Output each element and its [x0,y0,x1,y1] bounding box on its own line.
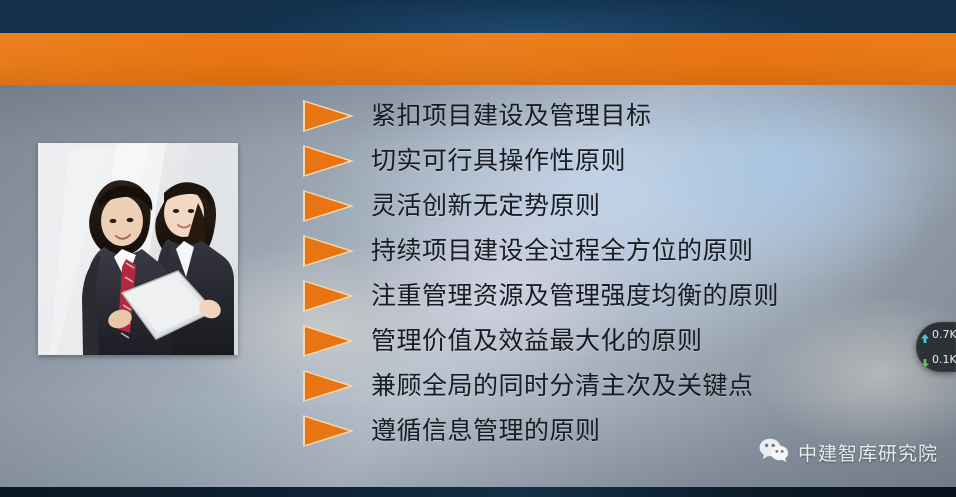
slide-content-area: 紧扣项目建设及管理目标 切实可行具操作性原则 [0,85,956,487]
list-item-label: 兼顾全局的同时分清主次及关键点 [371,373,754,398]
list-item: 兼顾全局的同时分清主次及关键点 [303,363,923,408]
slide-screenshot: 紧扣项目建设及管理目标 切实可行具操作性原则 [0,0,956,497]
list-item: 注重管理资源及管理强度均衡的原则 [303,273,923,318]
arrow-bullet-icon [303,279,355,313]
list-item-label: 注重管理资源及管理强度均衡的原则 [371,283,779,308]
orange-band-sheen [0,33,956,85]
list-item-label: 遵循信息管理的原则 [371,418,601,443]
principles-list: 紧扣项目建设及管理目标 切实可行具操作性原则 [303,93,923,453]
download-speed-value: 0.1K [932,353,956,366]
list-item: 切实可行具操作性原则 [303,138,923,183]
list-item-label: 持续项目建设全过程全方位的原则 [371,238,754,263]
arrow-bullet-icon [303,189,355,223]
arrow-bullet-icon [303,324,355,358]
arrow-bullet-icon [303,414,355,448]
arrow-bullet-icon [303,234,355,268]
list-item: 持续项目建设全过程全方位的原则 [303,228,923,273]
list-item: 紧扣项目建设及管理目标 [303,93,923,138]
upload-speed-value: 0.7K [932,328,956,341]
wechat-watermark: 中建智库研究院 [759,438,938,467]
upload-speed-row: 0.7K [921,322,956,347]
list-item: 管理价值及效益最大化的原则 [303,318,923,363]
arrow-bullet-icon [303,144,355,178]
list-item: 灵活创新无定势原则 [303,183,923,228]
arrow-bullet-icon [303,99,355,133]
arrow-bullet-icon [303,369,355,403]
bottom-dark-band [0,487,956,497]
list-item-label: 切实可行具操作性原则 [371,148,626,173]
photo-illustration [38,143,238,355]
list-item-label: 灵活创新无定势原则 [371,193,601,218]
top-dark-band [0,0,956,33]
arrow-up-icon [921,330,929,339]
business-people-tablet-photo [38,143,238,355]
wechat-icon [759,438,789,467]
orange-header-band [0,33,956,85]
arrow-down-icon [921,355,929,364]
wechat-account-name: 中建智库研究院 [798,439,938,466]
list-item-label: 紧扣项目建设及管理目标 [371,103,652,128]
list-item-label: 管理价值及效益最大化的原则 [371,328,703,353]
